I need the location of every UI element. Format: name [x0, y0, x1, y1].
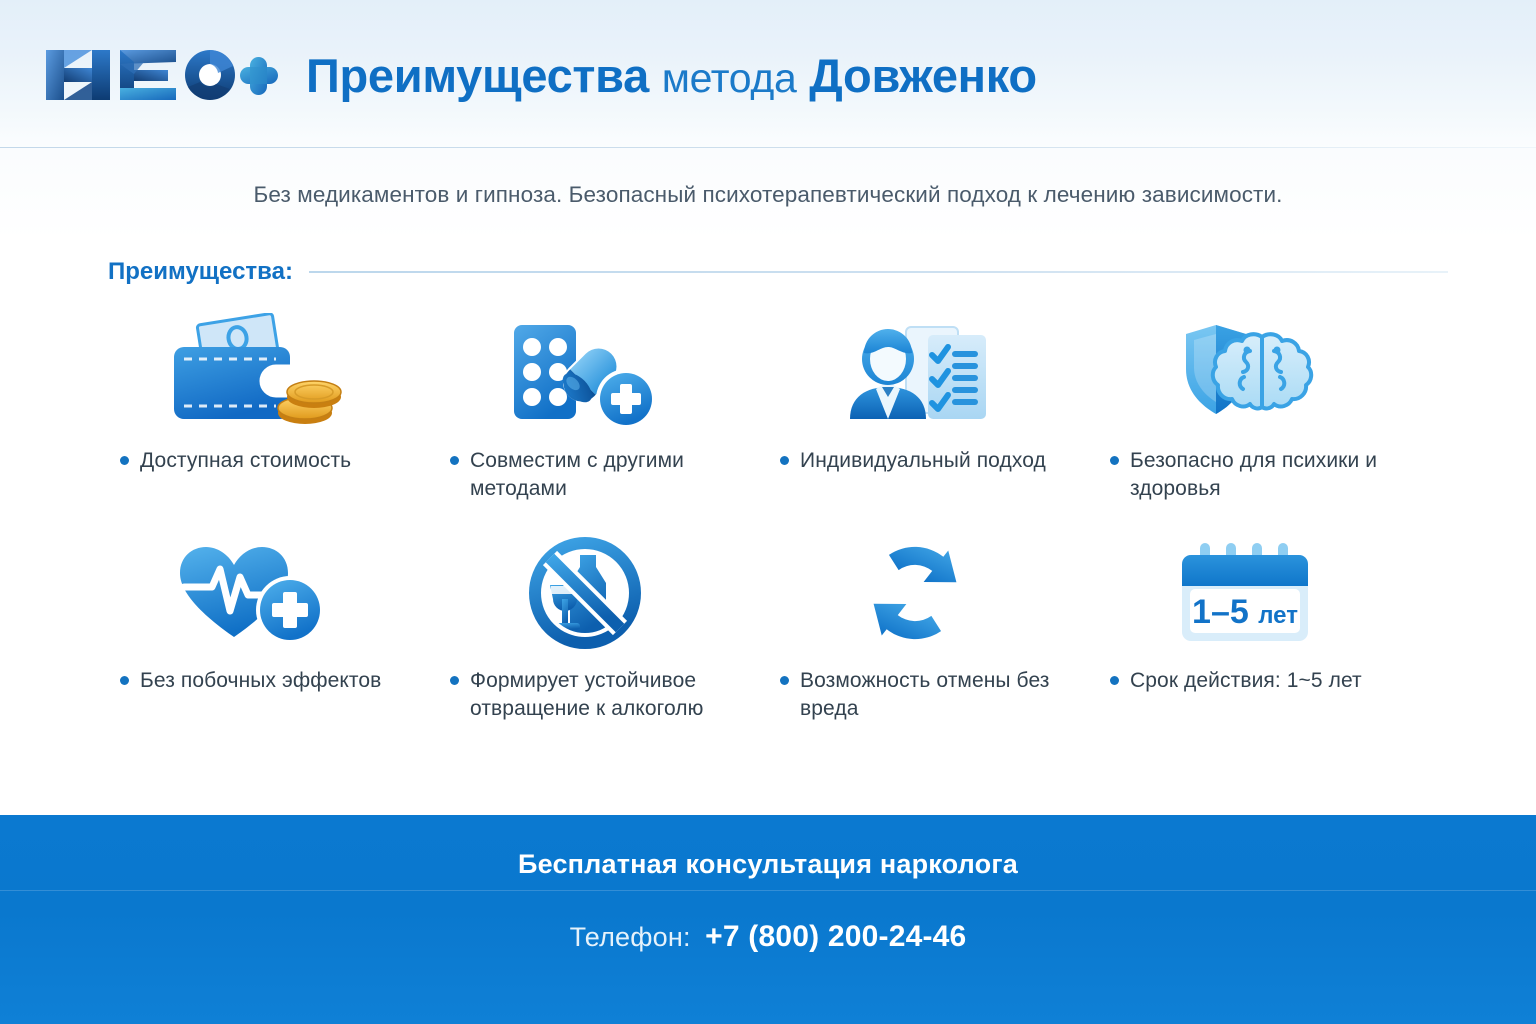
no-alcohol-icon [498, 533, 673, 653]
bullet-icon [780, 456, 789, 465]
refresh-arrows-icon [828, 533, 1003, 653]
benefit-icon-slot: 1–5 лет [1090, 530, 1400, 655]
phone-number[interactable]: +7 (800) 200-24-46 [705, 920, 966, 953]
benefit-label-row: Формирует устойчивое отвращение к алкого… [430, 667, 740, 722]
benefit-item: Возможность отмены без вреда [760, 530, 1070, 742]
doctor-checklist-icon [828, 313, 1003, 433]
benefit-label: Возможность отмены без вреда [800, 667, 1066, 722]
phone-label: Телефон: [570, 922, 691, 952]
shield-brain-icon [1158, 313, 1333, 433]
benefit-icon-slot [430, 310, 740, 435]
subtitle-band: Без медикаментов и гипноза. Безопасный п… [0, 148, 1536, 240]
benefit-label-row: Возможность отмены без вреда [760, 667, 1070, 722]
benefit-label-row: Индивидуальный подход [760, 447, 1070, 475]
footer-phone-row: Телефон: +7 (800) 200-24-46 [0, 920, 1536, 954]
benefit-label: Формирует устойчивое отвращение к алкого… [470, 667, 736, 722]
benefit-label: Совместим с другими методами [470, 447, 736, 502]
bullet-icon [120, 456, 129, 465]
benefit-label: Доступная стоимость [140, 447, 351, 475]
benefit-item: Формирует устойчивое отвращение к алкого… [430, 530, 740, 742]
benefit-icon-slot [760, 530, 1070, 655]
page-header: Преимущества метода Довженко [0, 0, 1536, 148]
benefit-label: Индивидуальный подход [800, 447, 1046, 475]
page-title-part3: Довженко [809, 49, 1036, 102]
benefit-item: 1–5 лет Срок действия: 1~5 лет [1090, 530, 1400, 742]
neo-plus-logo-icon [40, 44, 280, 106]
benefit-label-row: Без побочных эффектов [100, 667, 410, 695]
bullet-icon [450, 456, 459, 465]
benefit-icon-slot [100, 310, 410, 435]
footer-divider [0, 890, 1536, 891]
wallet-money-icon [168, 313, 343, 433]
footer-title: Бесплатная консультация нарколога [0, 849, 1536, 880]
benefit-icon-slot [100, 530, 410, 655]
bullet-icon [1110, 676, 1119, 685]
heart-pulse-cross-icon [168, 533, 343, 653]
pills-blister-plus-icon [498, 313, 673, 433]
benefit-label-row: Совместим с другими методами [430, 447, 740, 502]
benefit-icon-slot [1090, 310, 1400, 435]
benefit-label: Срок действия: 1~5 лет [1130, 667, 1362, 695]
bullet-icon [780, 676, 789, 685]
bullet-icon [120, 676, 129, 685]
benefits-grid: Доступная стоимость [100, 310, 1450, 742]
infographic-poster: Преимущества метода Довженко Без медикам… [0, 0, 1536, 1024]
page-title-part2: метода [662, 55, 797, 101]
benefit-item: Доступная стоимость [100, 310, 410, 522]
benefit-label-row: Безопасно для психики и здоровья [1090, 447, 1400, 502]
page-subtitle: Без медикаментов и гипноза. Безопасный п… [0, 182, 1536, 208]
benefit-icon-slot [430, 530, 740, 655]
benefit-item: Без побочных эффектов [100, 530, 410, 742]
page-title-part1: Преимущества [306, 49, 649, 102]
benefit-label: Безопасно для психики и здоровья [1130, 447, 1396, 502]
bullet-icon [450, 676, 459, 685]
benefit-label-row: Срок действия: 1~5 лет [1090, 667, 1400, 695]
page-footer: Бесплатная консультация нарколога Телефо… [0, 815, 1536, 1024]
benefit-item: Совместим с другими методами [430, 310, 740, 522]
benefits-section-header: Преимущества: [108, 258, 1448, 286]
benefit-item: Индивидуальный подход [760, 310, 1070, 522]
calendar-years-icon: 1–5 лет [1158, 533, 1333, 653]
brand-logo [40, 44, 280, 106]
benefit-label: Без побочных эффектов [140, 667, 381, 695]
benefit-icon-slot [760, 310, 1070, 435]
section-divider [309, 271, 1448, 273]
benefit-item: Безопасно для психики и здоровья [1090, 310, 1400, 522]
bullet-icon [1110, 456, 1119, 465]
benefit-label-row: Доступная стоимость [100, 447, 410, 475]
section-title: Преимущества: [108, 258, 293, 286]
page-title: Преимущества метода Довженко [306, 52, 1037, 99]
